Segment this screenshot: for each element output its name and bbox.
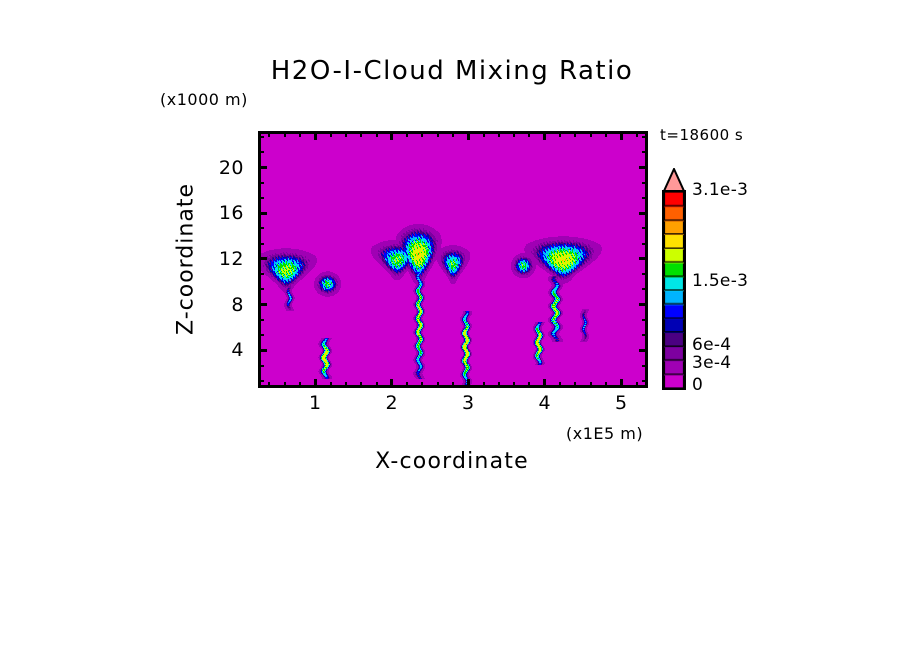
x-tick-top — [636, 131, 638, 137]
x-tick-label: 4 — [538, 392, 551, 414]
x-tick-top — [483, 131, 485, 137]
x-axis-units-label: (x1E5 m) — [566, 424, 643, 443]
colorbar-tick-label: 3e-4 — [692, 353, 731, 373]
x-tick-top — [590, 131, 592, 137]
x-tick-top — [437, 131, 439, 137]
x-tick — [360, 382, 362, 388]
x-tick — [636, 382, 638, 388]
y-tick — [258, 288, 264, 290]
x-tick — [559, 382, 561, 388]
x-tick-top — [390, 131, 393, 140]
y-tick-right — [642, 365, 648, 367]
x-tick — [574, 382, 576, 388]
y-tick-right — [642, 182, 648, 184]
y-tick-right — [639, 303, 648, 306]
x-tick-top — [498, 131, 500, 137]
x-tick-top — [314, 131, 317, 140]
x-tick — [467, 379, 470, 388]
axes-frame — [258, 131, 648, 388]
y-tick — [258, 319, 264, 321]
y-tick — [258, 166, 267, 169]
y-tick-right — [642, 227, 648, 229]
y-tick-right — [639, 166, 648, 169]
y-tick — [258, 257, 267, 260]
x-tick — [543, 379, 546, 388]
x-tick — [605, 382, 607, 388]
y-tick-label: 20 — [196, 168, 244, 190]
y-tick-label-text: 8 — [196, 294, 244, 316]
x-tick-top — [268, 131, 270, 137]
x-tick — [437, 382, 439, 388]
x-tick-top — [513, 131, 515, 137]
y-tick-right — [639, 257, 648, 260]
x-tick-top — [299, 131, 301, 137]
colorbar-tick-label: 0 — [692, 375, 703, 395]
y-tick-right — [642, 197, 648, 199]
y-tick-label: 4 — [196, 350, 244, 372]
colorbar-tick-label: 1.5e-3 — [692, 271, 748, 291]
colorbar-extend-arrow — [662, 168, 686, 192]
y-tick-right — [639, 349, 648, 352]
x-tick-top — [406, 131, 408, 137]
x-tick-label: 3 — [462, 392, 475, 414]
x-tick — [345, 382, 347, 388]
y-axis-label: Z-coordinate — [174, 183, 199, 335]
x-tick-label: 2 — [386, 392, 399, 414]
y-tick-label-text: 20 — [196, 157, 244, 179]
y-tick — [258, 197, 264, 199]
y-tick-right — [642, 243, 648, 245]
x-tick-top — [345, 131, 347, 137]
colorbar-gradient — [662, 190, 686, 390]
x-tick — [376, 382, 378, 388]
x-tick — [421, 382, 423, 388]
x-tick — [620, 379, 623, 388]
x-tick-top — [376, 131, 378, 137]
y-tick-right — [642, 288, 648, 290]
y-tick-label: 12 — [196, 259, 244, 281]
x-tick-top — [467, 131, 470, 140]
x-tick-top — [330, 131, 332, 137]
x-tick — [528, 382, 530, 388]
y-axis-units-label: (x1000 m) — [160, 90, 248, 109]
x-tick — [513, 382, 515, 388]
y-tick — [258, 349, 267, 352]
y-tick — [258, 334, 264, 336]
y-tick-right — [642, 334, 648, 336]
y-tick-right — [642, 136, 648, 138]
x-tick — [390, 379, 393, 388]
x-tick — [314, 379, 317, 388]
y-tick-right — [639, 212, 648, 215]
x-tick-top — [543, 131, 546, 140]
y-tick — [258, 243, 264, 245]
x-axis-label: X-coordinate — [0, 449, 904, 474]
x-tick — [330, 382, 332, 388]
y-tick-right — [642, 273, 648, 275]
x-tick — [498, 382, 500, 388]
x-tick — [590, 382, 592, 388]
x-tick — [268, 382, 270, 388]
x-tick-top — [559, 131, 561, 137]
x-tick-label: 1 — [309, 392, 322, 414]
x-tick-label: 5 — [615, 392, 628, 414]
y-tick — [258, 365, 264, 367]
x-tick — [284, 382, 286, 388]
y-tick — [258, 303, 267, 306]
y-tick-right — [642, 380, 648, 382]
x-tick-top — [284, 131, 286, 137]
y-tick — [258, 182, 264, 184]
x-tick — [452, 382, 454, 388]
colorbar: 3.1e-31.5e-36e-43e-40 — [662, 168, 686, 390]
y-tick-label-text: 12 — [196, 248, 244, 270]
x-tick-top — [360, 131, 362, 137]
x-tick-top — [605, 131, 607, 137]
y-tick-right — [642, 319, 648, 321]
x-tick — [483, 382, 485, 388]
x-tick-top — [528, 131, 530, 137]
y-tick-label-text: 16 — [196, 202, 244, 224]
y-tick-right — [642, 151, 648, 153]
x-tick — [406, 382, 408, 388]
y-tick — [258, 136, 264, 138]
x-tick-top — [452, 131, 454, 137]
y-tick — [258, 273, 264, 275]
y-tick — [258, 212, 267, 215]
colorbar-tick-label: 6e-4 — [692, 335, 731, 355]
figure-canvas: H2O-I-Cloud Mixing Ratio (x1000 m) t=186… — [0, 0, 904, 654]
x-tick-top — [574, 131, 576, 137]
y-tick-label-text: 4 — [196, 339, 244, 361]
x-tick-top — [421, 131, 423, 137]
x-tick-top — [620, 131, 623, 140]
colorbar-tick-label: 3.1e-3 — [692, 180, 748, 200]
page-title: H2O-I-Cloud Mixing Ratio — [0, 56, 904, 86]
y-tick — [258, 227, 264, 229]
y-tick-label: 8 — [196, 305, 244, 327]
time-annotation: t=18600 s — [660, 126, 743, 144]
x-tick — [299, 382, 301, 388]
y-tick-label: 16 — [196, 213, 244, 235]
y-tick — [258, 380, 264, 382]
y-tick — [258, 151, 264, 153]
